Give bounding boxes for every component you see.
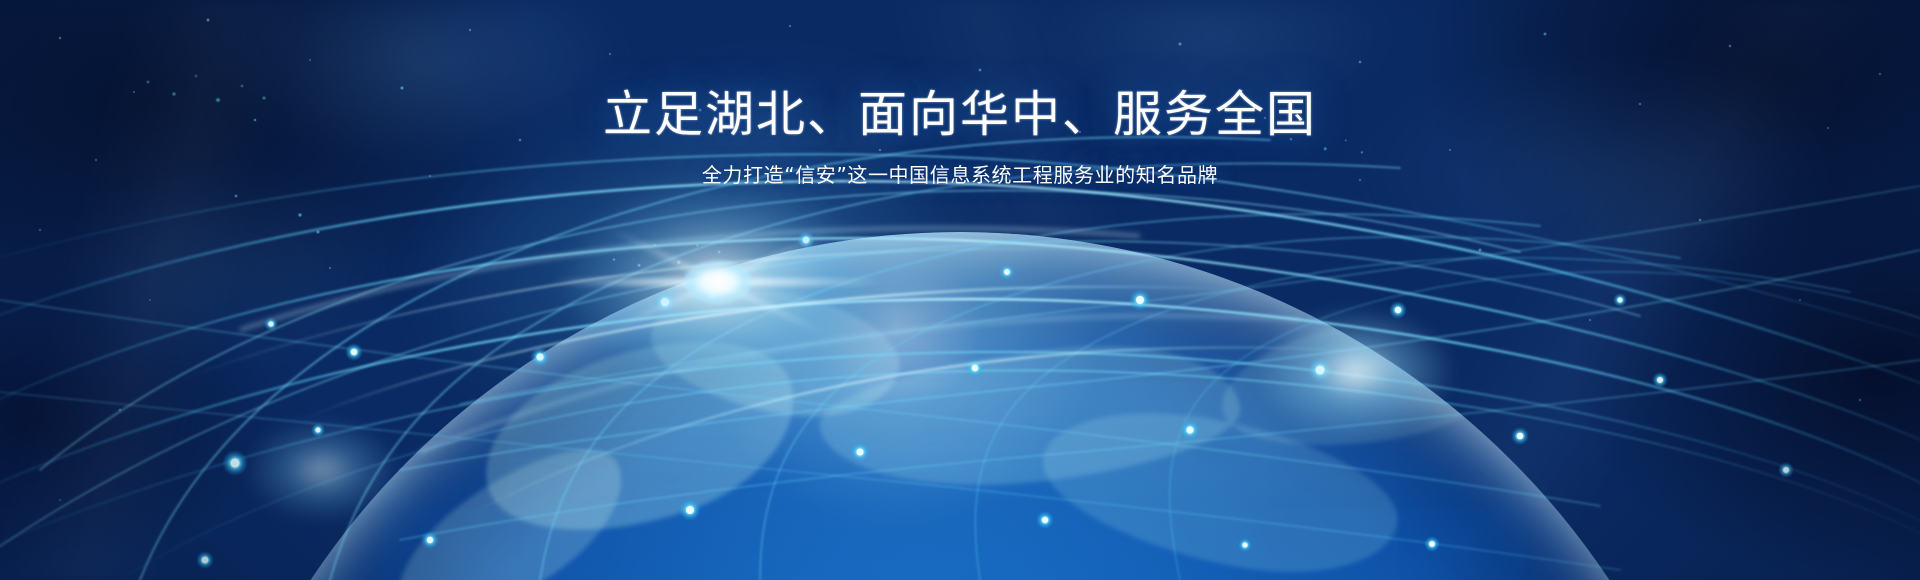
banner-subheadline: 全力打造“信安”这一中国信息系统工程服务业的知名品牌 [0, 162, 1920, 188]
hero-banner: 立足湖北、面向华中、服务全国 全力打造“信安”这一中国信息系统工程服务业的知名品… [0, 0, 1920, 580]
secondary-glow-left [247, 420, 397, 520]
burst-core [684, 260, 752, 304]
secondary-glow-right [1255, 307, 1455, 437]
banner-text-block: 立足湖北、面向华中、服务全国 全力打造“信安”这一中国信息系统工程服务业的知名品… [0, 86, 1920, 188]
banner-headline: 立足湖北、面向华中、服务全国 [0, 86, 1920, 144]
